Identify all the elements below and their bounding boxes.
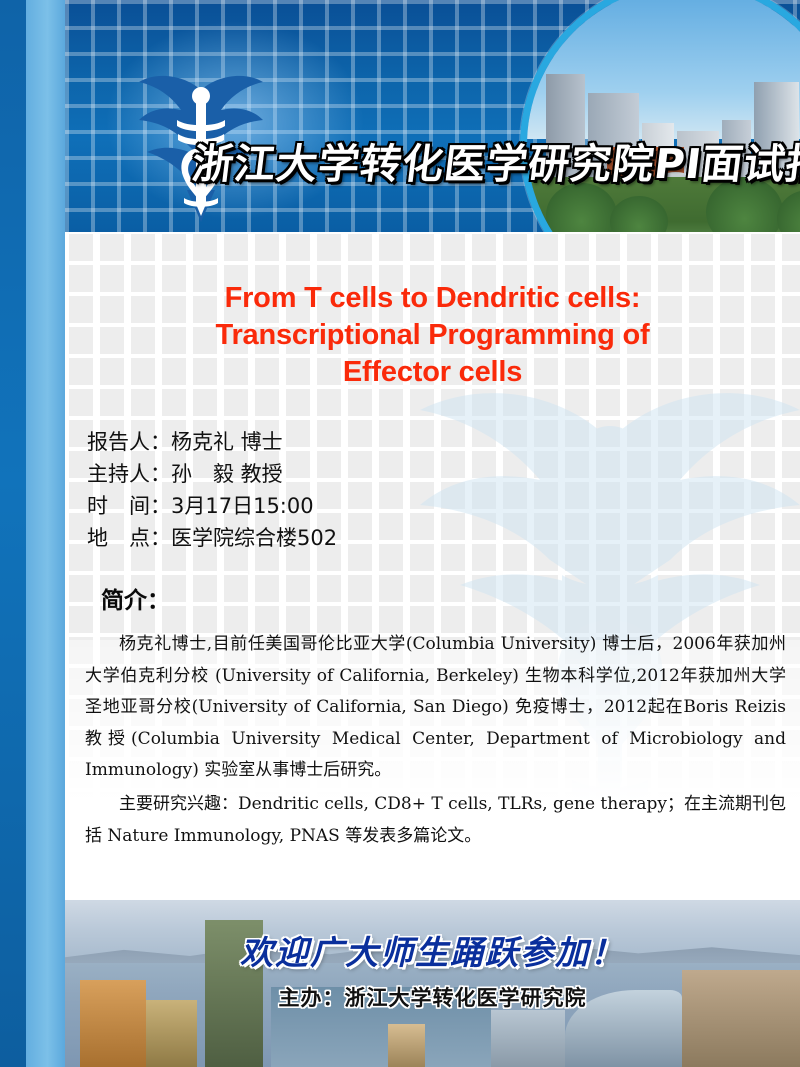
- seminar-poster: 浙江大学转化医学研究院PI面试报告 From T cells to Dendri…: [0, 0, 800, 1067]
- info-row-speaker: 报告人：杨克礼 博士: [87, 427, 800, 459]
- left-stripe-dark: [0, 0, 26, 1067]
- info-label-host: 主持人：: [87, 462, 171, 486]
- footer-organizer-text: 主办：浙江大学转化医学研究院: [65, 982, 800, 1012]
- info-row-location: 地 点：医学院综合楼502: [87, 523, 800, 555]
- left-stripe-light: [26, 0, 65, 1067]
- info-label-location: 地 点：: [87, 526, 171, 550]
- poster-body: From T cells to Dendritic cells: Transcr…: [65, 232, 800, 902]
- poster-footer: 欢迎广大师生踊跃参加！ 主办：浙江大学转化医学研究院: [65, 900, 800, 1067]
- bio-section-heading: 简介：: [65, 581, 800, 615]
- bio-paragraph-2: 主要研究兴趣：Dendritic cells, CD8+ T cells, TL…: [65, 789, 800, 852]
- poster-header: 浙江大学转化医学研究院PI面试报告: [65, 0, 800, 232]
- info-value-location: 医学院综合楼502: [171, 526, 337, 550]
- event-info-block: 报告人：杨克礼 博士 主持人：孙 毅 教授 时 间：3月17日15:00 地 点…: [65, 427, 800, 555]
- talk-title-line-2: Transcriptional Programming of: [216, 319, 650, 351]
- talk-title-line-1: From T cells to Dendritic cells:: [225, 282, 641, 314]
- info-label-speaker: 报告人：: [87, 430, 171, 454]
- info-value-time: 3月17日15:00: [171, 494, 314, 518]
- campus-photo-icon: [520, 0, 800, 232]
- footer-welcome-text: 欢迎广大师生踊跃参加！: [65, 926, 800, 974]
- info-value-speaker: 杨克礼 博士: [171, 430, 283, 454]
- talk-title-line-3: Effector cells: [343, 356, 522, 388]
- page-title: From T cells to Dendritic cells: Transcr…: [65, 232, 800, 391]
- info-label-time: 时 间：: [87, 494, 171, 518]
- bio-paragraph-1: 杨克礼博士,目前任美国哥伦比亚大学(Columbia University) 博…: [65, 629, 800, 787]
- info-row-time: 时 间：3月17日15:00: [87, 491, 800, 523]
- info-row-host: 主持人：孙 毅 教授: [87, 459, 800, 491]
- info-value-host: 孙 毅 教授: [171, 462, 283, 486]
- banner-title: 浙江大学转化医学研究院PI面试报告: [189, 130, 800, 190]
